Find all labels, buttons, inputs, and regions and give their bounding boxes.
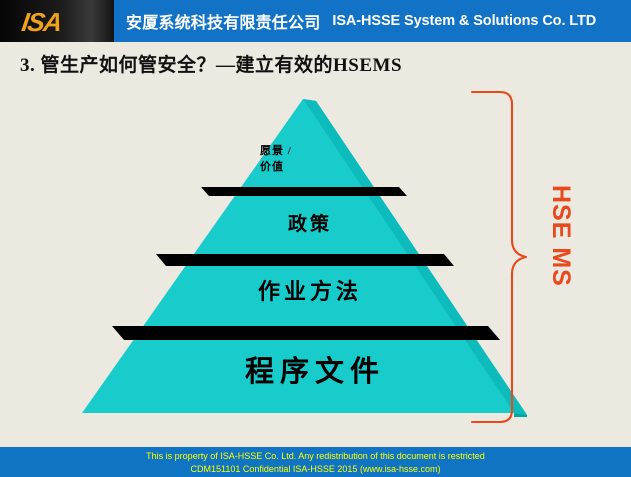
pyramid-divider-1 — [201, 187, 407, 196]
company-name-cn: 安厦系统科技有限责任公司 — [126, 9, 320, 33]
slide-header: ISA 安厦系统科技有限责任公司 ISA-HSSE System & Solut… — [0, 0, 631, 42]
hsems-brace — [470, 88, 550, 426]
slide-footer: This is property of ISA-HSSE Co. Ltd. An… — [0, 447, 631, 477]
slide-canvas: ISA 安厦系统科技有限责任公司 ISA-HSSE System & Solut… — [0, 0, 631, 477]
page-title: 3. 管生产如何管安全？—建立有效的HSEMS — [20, 50, 402, 77]
isa-logo: ISA — [20, 7, 63, 38]
hsems-label: HSE MS — [541, 185, 575, 287]
company-name-en: ISA-HSSE System & Solutions Co. LTD — [332, 13, 596, 29]
pyramid-divider-3 — [112, 326, 500, 340]
footer-line-1: This is property of ISA-HSSE Co. Ltd. An… — [0, 450, 631, 463]
header-title-group: 安厦系统科技有限责任公司 ISA-HSSE System & Solutions… — [126, 0, 596, 42]
pyramid-divider-2 — [156, 254, 454, 266]
curly-brace-icon — [472, 92, 526, 422]
logo-panel: ISA — [0, 0, 114, 42]
footer-line-2: CDM151101 Confidential ISA-HSSE 2015 (ww… — [0, 463, 631, 476]
